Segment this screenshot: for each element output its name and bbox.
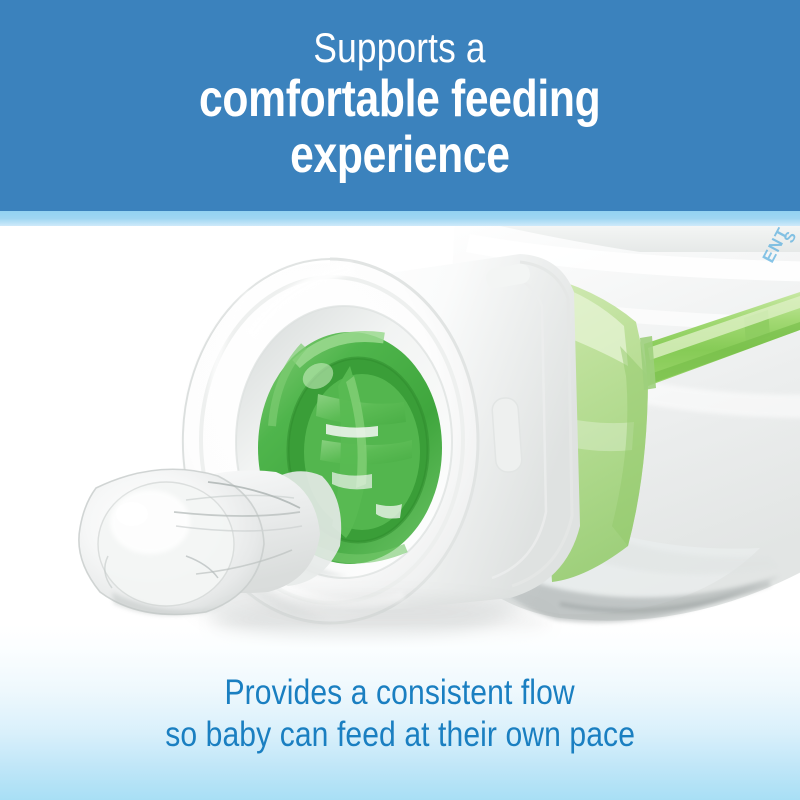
caption-panel: Provides a consistent flow so baby can f…: [0, 624, 800, 800]
promo-card: Supports a comfortable feeding experienc…: [0, 0, 800, 800]
caption-line-1: Provides a consistent flow: [225, 672, 575, 714]
headline-line-3: experience: [290, 127, 510, 183]
headline-line-2: comfortable feeding: [199, 71, 600, 127]
caption-line-2: so baby can feed at their own pace: [165, 714, 635, 756]
header-banner: Supports a comfortable feeding experienc…: [0, 0, 800, 211]
headline-line-1: Supports a: [314, 25, 486, 71]
product-photo-illustration: ENT S: [0, 226, 800, 656]
product-photo: ENT S: [0, 226, 800, 656]
